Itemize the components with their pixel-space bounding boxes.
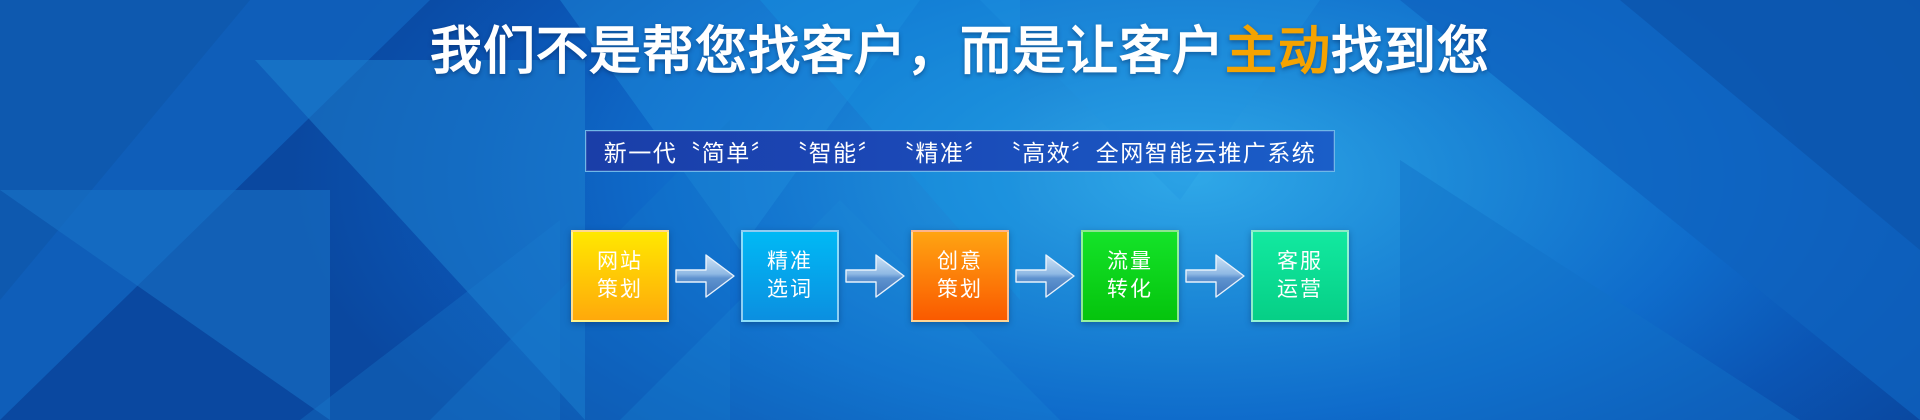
arrow-right-icon xyxy=(1009,230,1081,322)
arrow-right-icon xyxy=(669,230,741,322)
arrow-right-icon xyxy=(1179,230,1251,322)
flow-step-line2: 选词 xyxy=(767,276,813,304)
headline-part1: 我们不是帮您找客户，而是让客户 xyxy=(430,22,1225,82)
background-facet xyxy=(0,190,330,420)
arrow-right-icon xyxy=(839,230,911,322)
process-flow: 网站策划精准选词创意策划流量转化客服运营 xyxy=(571,228,1349,324)
flow-step-precise-keyword-selection[interactable]: 精准选词 xyxy=(741,230,839,322)
flow-step-line1: 网站 xyxy=(597,248,643,276)
promo-banner: 我们不是帮您找客户，而是让客户主动找到您 新一代〝简单〞 〝智能〞 〝精准〞 〝… xyxy=(0,0,1920,420)
flow-step-line2: 策划 xyxy=(937,276,983,304)
flow-step-traffic-conversion[interactable]: 流量转化 xyxy=(1081,230,1179,322)
flow-step-creative-planning[interactable]: 创意策划 xyxy=(911,230,1009,322)
background-facet xyxy=(300,220,560,420)
headline-part2: 找到您 xyxy=(1331,22,1490,82)
flow-step-line2: 策划 xyxy=(597,276,643,304)
flow-step-line2: 转化 xyxy=(1107,276,1153,304)
flow-step-line1: 创意 xyxy=(937,248,983,276)
flow-step-customer-service-operation[interactable]: 客服运营 xyxy=(1251,230,1349,322)
flow-step-line1: 客服 xyxy=(1277,248,1323,276)
headline: 我们不是帮您找客户，而是让客户主动找到您 xyxy=(0,22,1920,83)
flow-step-website-planning[interactable]: 网站策划 xyxy=(571,230,669,322)
background-facet xyxy=(1400,160,1800,420)
subtitle-text: 新一代〝简单〞 〝智能〞 〝精准〞 〝高效〞全网智能云推广系统 xyxy=(604,134,1316,168)
subtitle-banner: 新一代〝简单〞 〝智能〞 〝精准〞 〝高效〞全网智能云推广系统 xyxy=(585,130,1335,172)
background-facet xyxy=(255,60,585,420)
flow-step-line1: 精准 xyxy=(767,248,813,276)
flow-step-line2: 运营 xyxy=(1277,276,1323,304)
headline-highlight: 主动 xyxy=(1225,22,1331,82)
flow-step-line1: 流量 xyxy=(1107,248,1153,276)
